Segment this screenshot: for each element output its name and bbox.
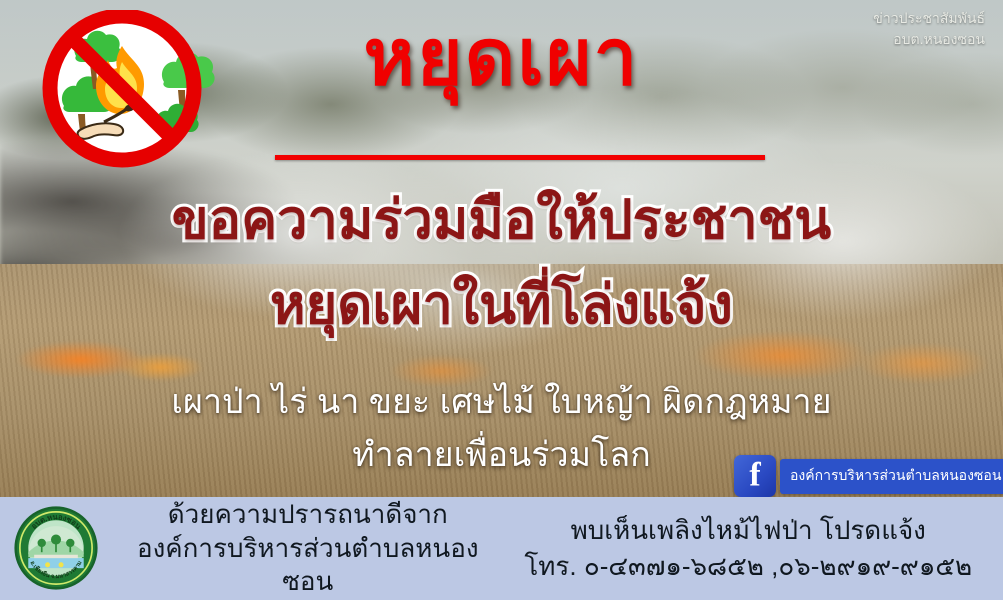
facebook-icon[interactable]: f: [734, 455, 776, 497]
footer-phone-numbers: โทร. ๐-๔๓๗๑-๖๘๕๒ ,๐๖-๒๙๑๙-๙๑๕๒: [504, 549, 994, 584]
footer-right-text: พบเห็นเพลิงไหม้ไฟป่า โปรดแจ้ง โทร. ๐-๔๓๗…: [504, 513, 1003, 583]
footer-left-line1: ด้วยความปรารถนาดีจาก: [112, 498, 504, 532]
body-line-illegal: เผาป่า ไร่ นา ขยะ เศษไม้ ใบหญ้า ผิดกฎหมา…: [0, 384, 1003, 421]
facebook-icon-letter: f: [734, 458, 776, 492]
footer-right-line1: พบเห็นเพลิงไหม้ไฟป่า โปรดแจ้ง: [504, 513, 994, 548]
facebook-badge[interactable]: f องค์การบริหารส่วนตำบลหนองซอน: [734, 455, 1003, 497]
page-title: หยุดเผา: [0, 18, 1003, 96]
subheading-cooperation: ขอความร่วมมือให้ประชาชน: [0, 192, 1003, 249]
footer-left-text: ด้วยความปรารถนาดีจาก องค์การบริหารส่วนตำ…: [112, 498, 504, 599]
poster-root: ข่าวประชาสัมพันธ์ อบต.หนองซอน หยุดเผา ขอ…: [0, 0, 1003, 600]
facebook-page-name[interactable]: องค์การบริหารส่วนตำบลหนองซอน: [780, 459, 1003, 494]
subheading-stop-open-burning: หยุดเผาในที่โล่งแจ้ง: [0, 277, 1003, 334]
footer-left-line2: องค์การบริหารส่วนตำบลหนองซอน: [112, 532, 504, 600]
footer-left: อบต.หนองซอน อ.เชียงยืน จ.มหาสารคาม ด้วยค…: [0, 498, 504, 599]
title-divider: [275, 155, 765, 160]
municipal-seal-icon: อบต.หนองซอน อ.เชียงยืน จ.มหาสารคาม: [14, 506, 98, 590]
footer-bar: อบต.หนองซอน อ.เชียงยืน จ.มหาสารคาม ด้วยค…: [0, 497, 1003, 600]
